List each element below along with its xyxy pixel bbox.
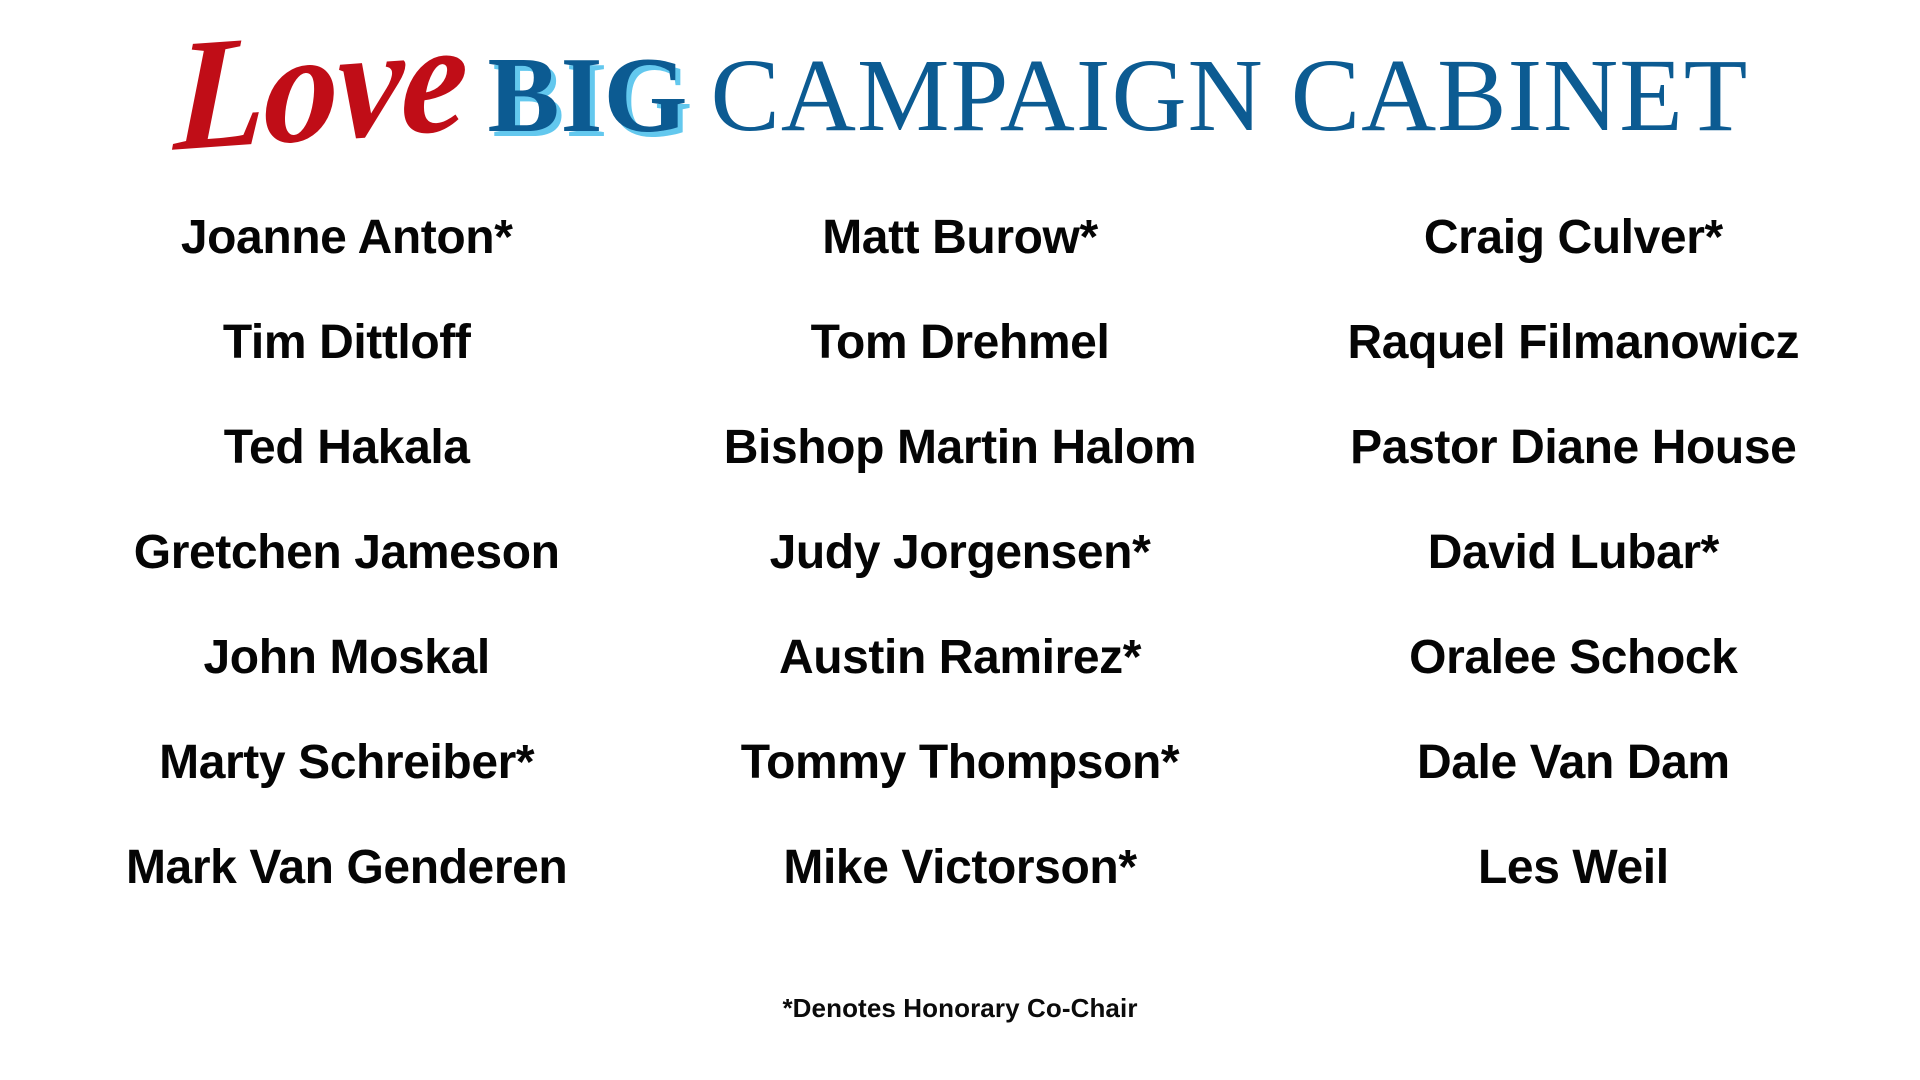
list-item: Ted Hakala	[40, 423, 653, 473]
list-item: Mark Van Genderen	[40, 843, 653, 893]
list-item: Gretchen Jameson	[40, 528, 653, 578]
list-item: Tim Dittloff	[40, 318, 653, 368]
list-item: John Moskal	[40, 633, 653, 683]
list-item: Raquel Filmanowicz	[1267, 318, 1880, 368]
list-item: Oralee Schock	[1267, 633, 1880, 683]
list-item: Matt Burow*	[653, 213, 1266, 263]
title-emphasis-word: BIG	[481, 42, 710, 150]
footnote-row: *Denotes Honorary Co-Chair	[0, 921, 1920, 1080]
title-rest-text: CAMPAIGN CABINET	[711, 44, 1749, 148]
campaign-cabinet-slide: Love BIG CAMPAIGN CABINET Joanne Anton* …	[0, 0, 1920, 1080]
list-item: Judy Jorgensen*	[653, 528, 1266, 578]
list-item: Bishop Martin Halom	[653, 423, 1266, 473]
list-item: Joanne Anton*	[40, 213, 653, 263]
list-item: Mike Victorson*	[653, 843, 1266, 893]
title-script-word: Love	[172, 3, 486, 168]
page-title: Love BIG CAMPAIGN CABINET	[0, 0, 1920, 186]
list-item: Austin Ramirez*	[653, 633, 1266, 683]
list-item: David Lubar*	[1267, 528, 1880, 578]
list-item: Tom Drehmel	[653, 318, 1266, 368]
list-item: Pastor Diane House	[1267, 423, 1880, 473]
honorary-co-chair-footnote: *Denotes Honorary Co-Chair	[782, 993, 1137, 1024]
cabinet-member-grid: Joanne Anton* Matt Burow* Craig Culver* …	[0, 186, 1920, 921]
list-item: Marty Schreiber*	[40, 738, 653, 788]
list-item: Dale Van Dam	[1267, 738, 1880, 788]
list-item: Tommy Thompson*	[653, 738, 1266, 788]
list-item: Craig Culver*	[1267, 213, 1880, 263]
list-item: Les Weil	[1267, 843, 1880, 893]
